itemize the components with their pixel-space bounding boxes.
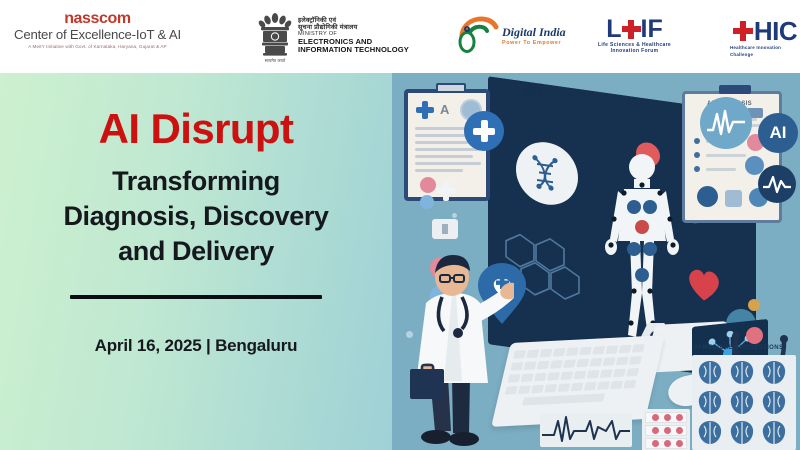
cross-badge-icon xyxy=(464,111,504,151)
hic-subtitle: Healthcare Innovation Challenge xyxy=(730,44,800,58)
microscope-slides xyxy=(642,409,690,450)
banner-subtitle: Transforming Diagnosis, Discovery and De… xyxy=(63,164,328,269)
clipboard-letter: A xyxy=(440,102,449,117)
digital-india-mark-icon xyxy=(455,16,499,56)
medical-cross-icon xyxy=(436,181,456,201)
brain-scan-cell xyxy=(728,389,756,416)
logo-nasscom-coe: nasscom Center of Excellence-IoT & AI A … xyxy=(14,10,181,50)
human-body-scan-figure xyxy=(600,151,684,351)
medical-cross-icon xyxy=(622,20,641,39)
hic-letters: HIC xyxy=(754,18,797,44)
event-banner: AI Disrupt Transforming Diagnosis, Disco… xyxy=(0,73,800,450)
ai-healthcare-illustration: AI A AI DIAGNOSIS xyxy=(392,73,800,450)
logo-hic: HIC Healthcare Innovation Challenge xyxy=(730,18,800,58)
banner-text-column: AI Disrupt Transforming Diagnosis, Disco… xyxy=(0,73,392,450)
meity-information-technology: INFORMATION TECHNOLOGY xyxy=(298,46,409,54)
brain-scan-cell xyxy=(760,419,788,446)
brain-scan-cell xyxy=(696,359,724,386)
nasscom-wordmark: nasscom xyxy=(64,10,131,27)
first-aid-kit-icon xyxy=(432,219,458,239)
nasscom-coe-line: Center of Excellence-IoT & AI xyxy=(14,27,181,43)
nasscom-tagline: A MeitY Initiative with Govt. of Karnata… xyxy=(28,43,166,50)
digital-india-tagline: Power To Empower xyxy=(502,39,566,47)
chip-icon xyxy=(697,186,718,207)
emblem-motto-text: सत्यमेव जयते xyxy=(265,58,286,63)
brain-scan-grid xyxy=(692,355,796,450)
page-title: AI Disrupt xyxy=(99,106,294,152)
ai-badge-icon: AI xyxy=(758,113,798,153)
event-date-location: April 16, 2025 | Bengaluru xyxy=(95,336,298,356)
lhif-letters-if: IF xyxy=(641,17,663,42)
pill-badge-icon xyxy=(748,299,760,311)
clipboard-status-dot xyxy=(420,177,436,193)
ecg-waveform-card xyxy=(540,413,632,447)
lhif-subtitle-line-2: Innovation Forum xyxy=(611,48,659,54)
logo-digital-india: Digital India Power To Empower xyxy=(455,16,566,56)
meity-hindi-line-2: सूचना प्रौद्योगिकी मंत्रालय xyxy=(298,25,409,32)
title-divider xyxy=(70,295,322,299)
ashoka-emblem-icon: सत्यमेव जयते xyxy=(258,8,292,64)
subtitle-line-2: Diagnosis, Discovery xyxy=(63,199,328,234)
ecg-badge-icon xyxy=(700,97,752,149)
subtitle-line-1: Transforming xyxy=(63,164,328,199)
digital-india-title: Digital India xyxy=(502,26,566,39)
logo-ministry-of-electronics-and-it: सत्यमेव जयते इलेक्ट्रॉनिकी एवं सूचना प्र… xyxy=(258,8,409,64)
medical-cross-icon xyxy=(416,101,434,119)
clipboard-status-dot xyxy=(420,195,434,209)
heart-icon xyxy=(684,262,724,306)
brain-scan-cell xyxy=(760,359,788,386)
ai-text-label: AI xyxy=(522,79,542,105)
brain-panel-label: AI MEDICAL SUGGESTIONS xyxy=(694,345,783,351)
decor-dot xyxy=(452,213,457,218)
chip-icon xyxy=(725,190,742,207)
logo-bar: nasscom Center of Excellence-IoT & AI A … xyxy=(0,0,800,73)
brain-scan-cell xyxy=(728,359,756,386)
pill-badge-icon xyxy=(746,327,763,344)
heartbeat-badge-icon xyxy=(758,165,796,203)
brain-scan-cell xyxy=(728,419,756,446)
clipboard-clamp xyxy=(719,85,751,94)
brain-scan-cell xyxy=(696,419,724,446)
clipboard-clamp xyxy=(436,83,466,93)
brain-scan-cell xyxy=(696,389,724,416)
medical-cross-icon xyxy=(733,21,753,41)
logo-lhif: L IF Life Sciences & Healthcare Innovati… xyxy=(598,16,671,55)
subtitle-line-3: and Delivery xyxy=(63,234,328,269)
lhif-letter-l: L xyxy=(606,17,621,42)
brain-scan-cell xyxy=(760,389,788,416)
